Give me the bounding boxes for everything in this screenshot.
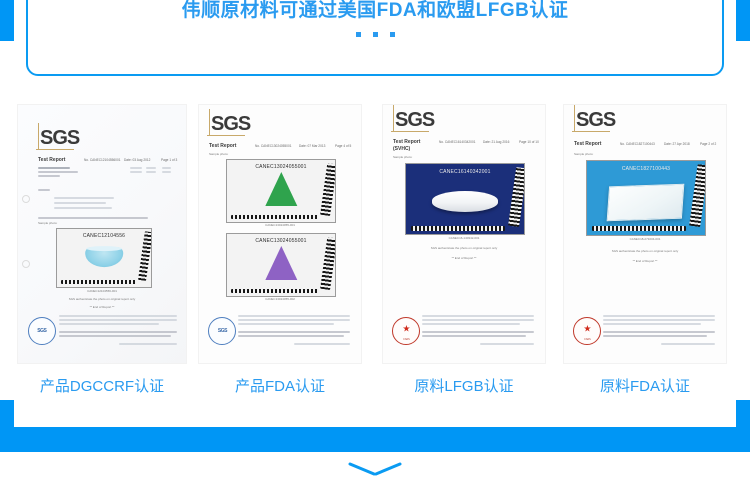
header-subtitle: 伟顺原材料可通过美国FDA和欧盟LFGB认证 (28, 0, 722, 22)
sample-note: Sample photo: (209, 152, 228, 156)
dot-3 (390, 32, 395, 37)
sample-photo: CANEC13024055001 (226, 233, 336, 297)
sample-note: Sample photo: (38, 221, 57, 225)
punch-hole (22, 195, 30, 203)
report-number: No. CANEC16140342001 (439, 140, 476, 144)
bottom-accent-bar (0, 427, 750, 452)
report-number: No. CANEC1827100443 (620, 142, 655, 146)
seal-label: CNAS (574, 338, 600, 341)
ruler-vertical (689, 165, 706, 228)
bottom-white-gap (14, 405, 736, 427)
ruler-vertical (320, 237, 336, 290)
sample-code: CANEC16140342001 (406, 169, 524, 175)
seal-label: SGS (29, 328, 55, 334)
certificate-card[interactable]: SGS Test Report (SVHC) No. CANEC16140342… (383, 105, 545, 363)
report-footer: ★ CNAS (389, 311, 538, 352)
certificate-card[interactable]: SGS Test Report No. CANEC1827100443 Date… (564, 105, 726, 363)
report-date: Date: 21 Aug 2016 (483, 140, 509, 144)
sample-subject-drop-purple (258, 246, 303, 284)
page-root: 权威资质认证 伟顺原材料可通过美国FDA和欧盟LFGB认证 SGS Test R… (0, 0, 750, 479)
header-panel: 权威资质认证 伟顺原材料可通过美国FDA和欧盟LFGB认证 (26, 0, 724, 76)
ruler-horizontal (231, 215, 317, 219)
certificate-gallery: SGS Test Report No. CANEC12104556001 Dat… (0, 105, 750, 365)
sgs-logo: SGS (395, 109, 434, 132)
seal-label: CNAS (393, 338, 419, 341)
report-title: Test Report (574, 141, 601, 147)
report-title: Test Report (393, 139, 420, 145)
ruler-vertical (320, 163, 336, 216)
report-footer: SGS (25, 311, 180, 352)
photo-caption: CANEC13024055-001 (199, 223, 361, 227)
report-page: Page 10 of 10 (519, 140, 539, 144)
sample-code: CANEC13024055001 (227, 238, 335, 244)
right-accent-tab (736, 0, 750, 41)
dot-1 (356, 32, 361, 37)
report-date: Date: 07 Mar 2013 (299, 144, 325, 148)
report-title: Test Report (209, 143, 236, 149)
sample-code: CANEC12104556 (57, 233, 151, 239)
sgs-seal: SGS (28, 317, 56, 345)
report-date: Date: 03 Aug 2012 (124, 158, 150, 162)
caption-product-fda: 产品FDA认证 (199, 375, 361, 396)
certificate-card[interactable]: SGS Test Report No. CANEC12104556001 Dat… (18, 105, 186, 363)
bottom-right-accent (736, 400, 750, 427)
end-note: ** End of Report ** (564, 259, 726, 263)
photo-caption: CANEC16-140342-001 (383, 236, 545, 240)
photo-caption: CANEC12104556-001 (18, 289, 186, 293)
ruler-horizontal (231, 289, 317, 293)
sample-subject-drop-green (258, 172, 303, 210)
punch-hole (22, 260, 30, 268)
report-title: Test Report (38, 157, 65, 163)
report-date: Date: 27 Apr 2018 (664, 142, 690, 146)
report-page: Page 1 of 3 (161, 158, 177, 162)
caption-dgccrf: 产品DGCCRF认证 (18, 375, 186, 396)
report-page: Page 2 of 2 (700, 142, 716, 146)
sample-photo: CANEC12104556 (56, 228, 152, 288)
report-footer: SGS (205, 311, 354, 352)
sample-subject-pillow (432, 191, 498, 212)
sample-subject-bowl (85, 247, 123, 267)
caption-material-lfgb: 原料LFGB认证 (383, 375, 545, 396)
ruler-vertical (138, 232, 152, 281)
certificate-captions: 产品DGCCRF认证 产品FDA认证 原料LFGB认证 原料FDA认证 (0, 375, 750, 401)
certificate-card[interactable]: SGS Test Report No. CANEC13024055001 Dat… (199, 105, 361, 363)
chevron-down-icon[interactable] (348, 462, 402, 476)
sample-photo: CANEC16140342001 (405, 163, 525, 235)
sample-code: CANEC1827100443 (587, 166, 705, 172)
sample-note: Sample photo: (574, 152, 593, 156)
sample-photo: CANEC13024055001 (226, 159, 336, 223)
sgs-logo: SGS (40, 127, 79, 150)
sgs-logo: SGS (211, 113, 250, 136)
photo-note: SGS authenticate the photo on original r… (18, 297, 186, 301)
photo-caption: CANEC18-271004-001 (564, 237, 726, 241)
cnas-seal: ★ CNAS (573, 317, 601, 345)
sgs-logo: SGS (576, 109, 615, 132)
sample-photo: CANEC1827100443 (586, 160, 706, 236)
report-number: No. CANEC12104556001 (84, 158, 121, 162)
end-note: ** End of Report ** (383, 256, 545, 260)
sample-note: Sample photo: (393, 155, 412, 159)
end-note: ** End of Report ** (18, 305, 186, 309)
ruler-vertical (508, 167, 525, 227)
report-number: No. CANEC13024055001 (255, 144, 292, 148)
seal-label: SGS (209, 328, 235, 334)
report-subtitle: (SVHC) (393, 146, 410, 152)
decorative-dots (28, 24, 722, 34)
photo-note: SGS authenticate the photo on original r… (564, 249, 726, 253)
bottom-left-accent (0, 400, 14, 427)
dot-2 (373, 32, 378, 37)
sgs-seal: SGS (208, 317, 236, 345)
star-icon: ★ (402, 324, 410, 333)
ruler-horizontal (411, 226, 505, 231)
caption-material-fda: 原料FDA认证 (564, 375, 726, 396)
report-footer: ★ CNAS (570, 311, 719, 352)
cnas-seal: ★ CNAS (392, 317, 420, 345)
photo-caption: CANEC13024055-002 (199, 297, 361, 301)
ruler-horizontal (592, 226, 686, 231)
left-accent-tab (0, 0, 14, 41)
star-icon: ★ (583, 324, 591, 333)
sample-subject-sheet (607, 183, 685, 220)
sample-code: CANEC13024055001 (227, 164, 335, 170)
report-page: Page 4 of 5 (335, 144, 351, 148)
photo-note: SGS authenticate the photo on original r… (383, 246, 545, 250)
ruler-horizontal (61, 280, 136, 284)
